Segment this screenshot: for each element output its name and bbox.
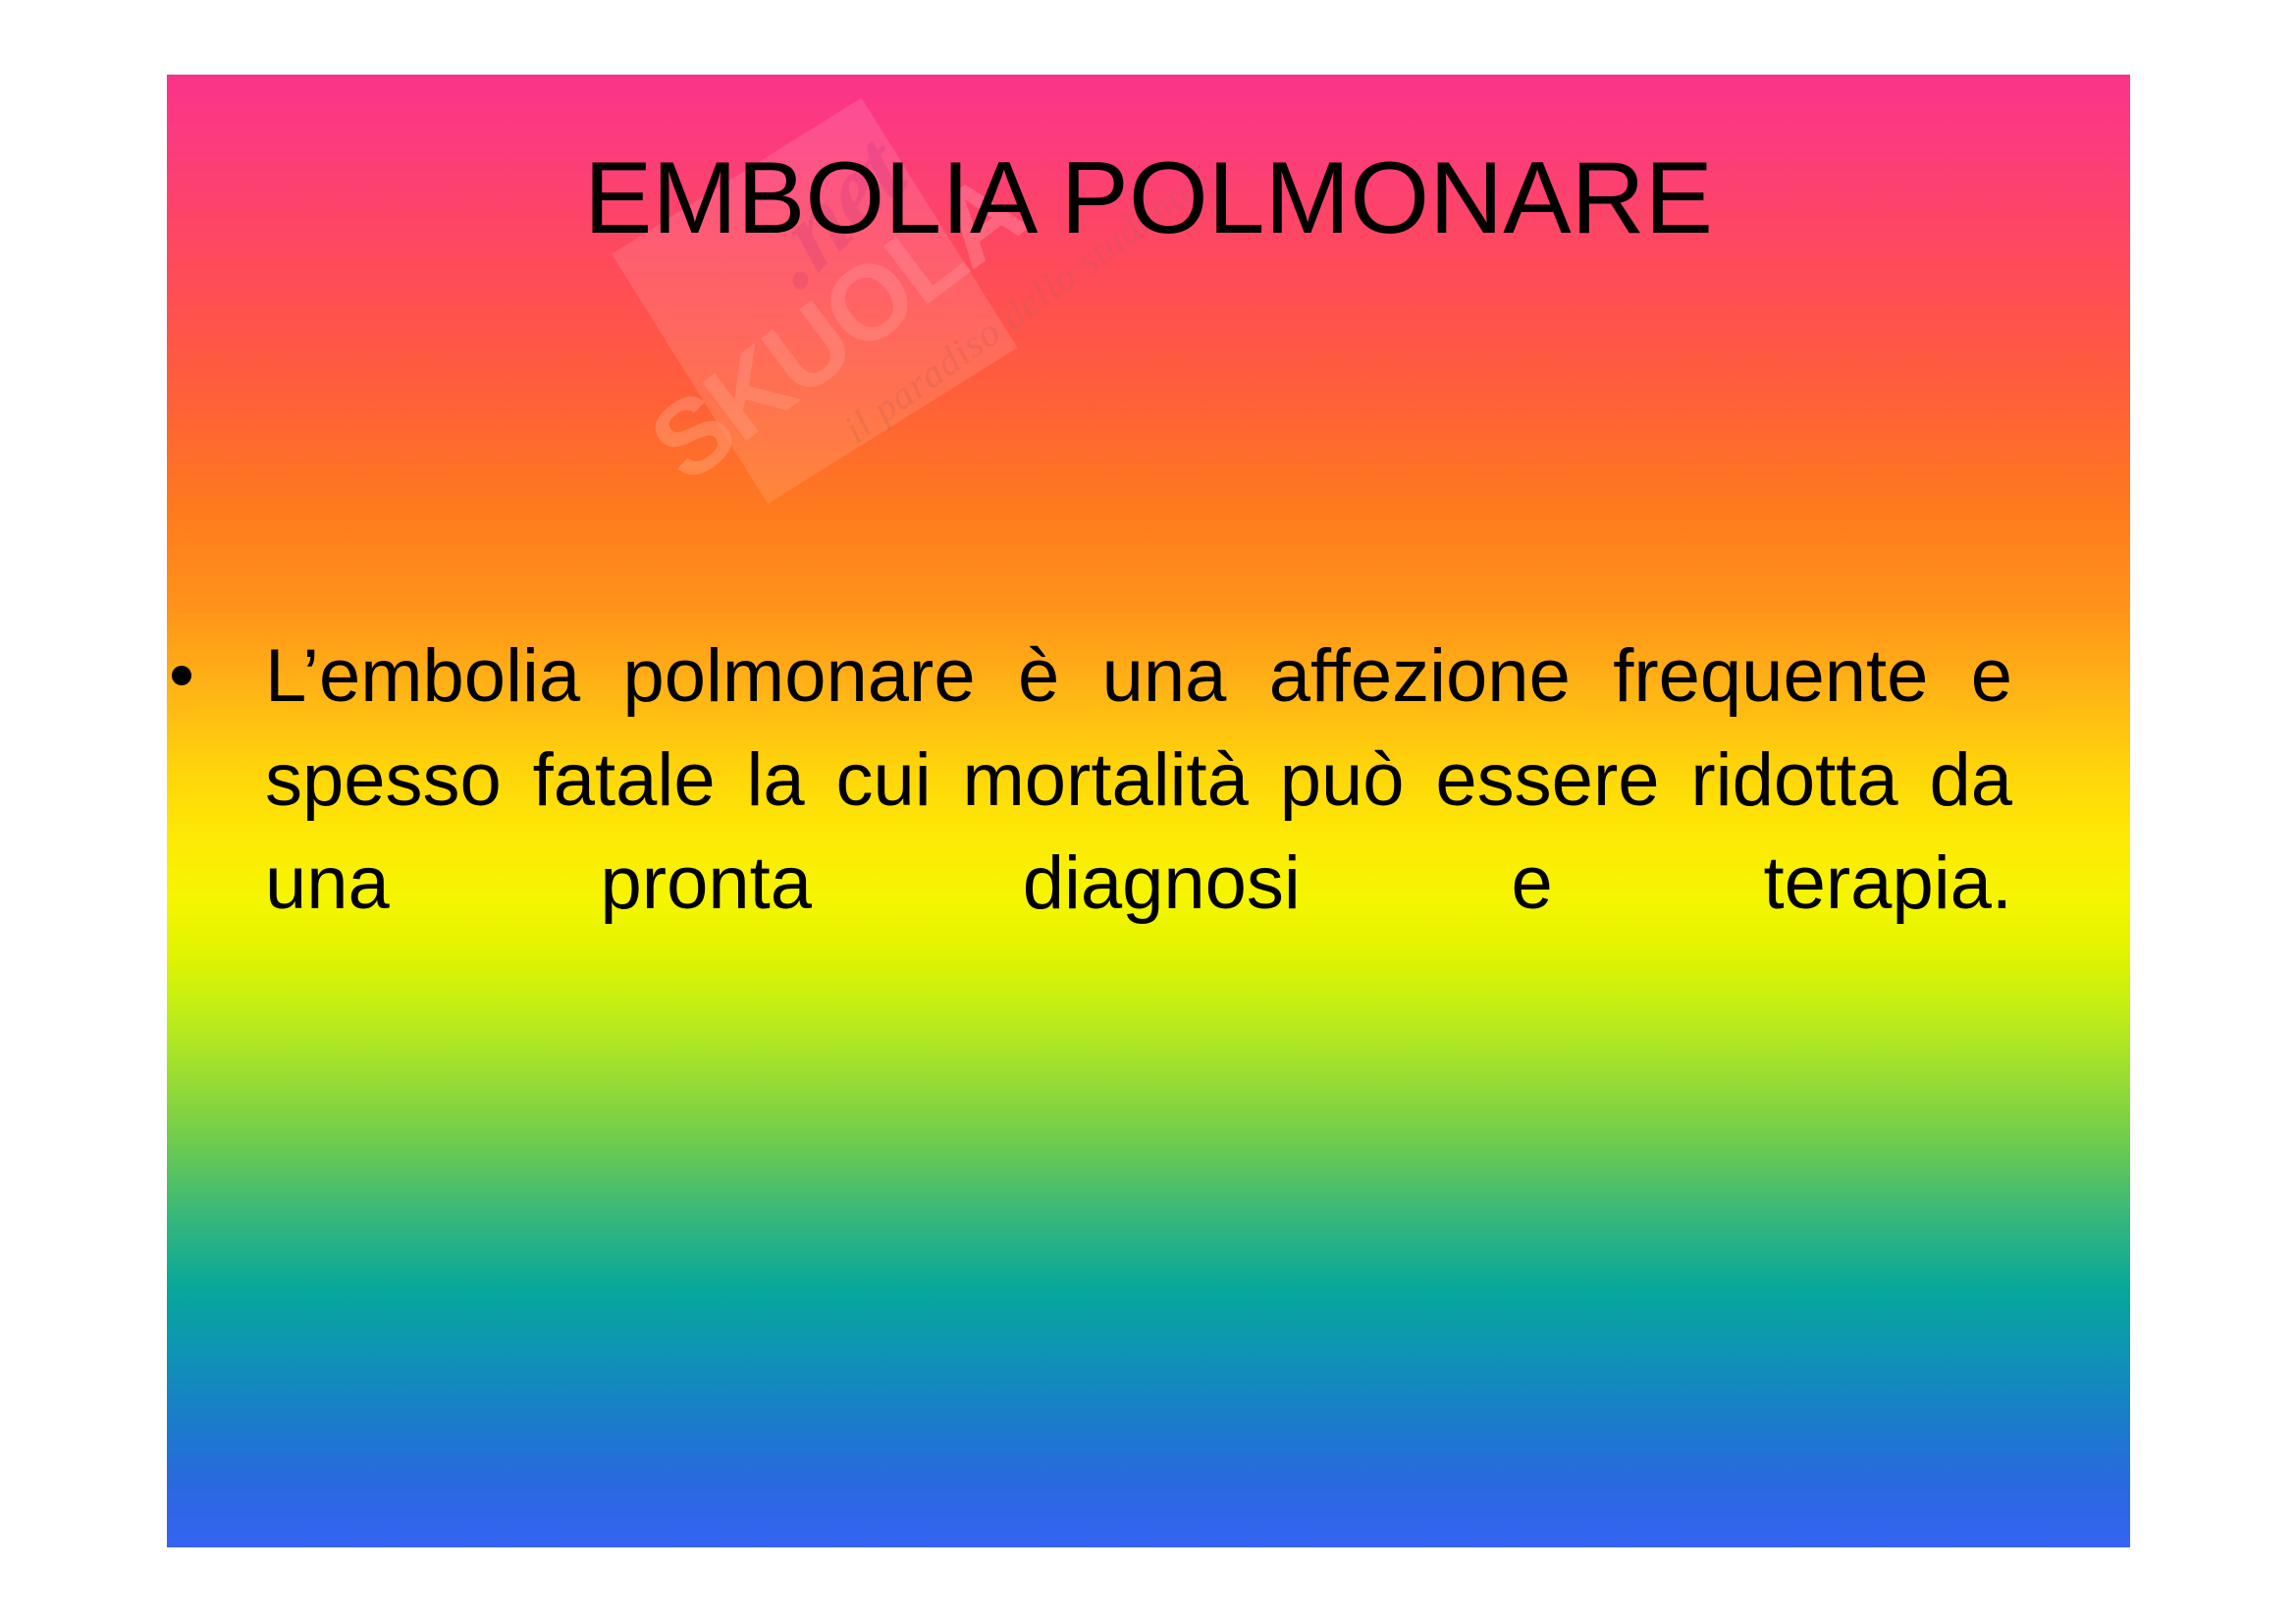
list-item: L’embolia polmonare è una affezione freq…	[167, 624, 2130, 1040]
slide-canvas: SKUOLA .net il paradiso dello studente E…	[167, 75, 2130, 1547]
page-title: EMBOLIA POLMONARE	[167, 145, 2130, 252]
slide-body: L’embolia polmonare è una affezione freq…	[167, 624, 2130, 1040]
bullet-text: L’embolia polmonare è una affezione freq…	[265, 624, 2012, 1040]
bullet-dot-icon	[172, 666, 191, 685]
